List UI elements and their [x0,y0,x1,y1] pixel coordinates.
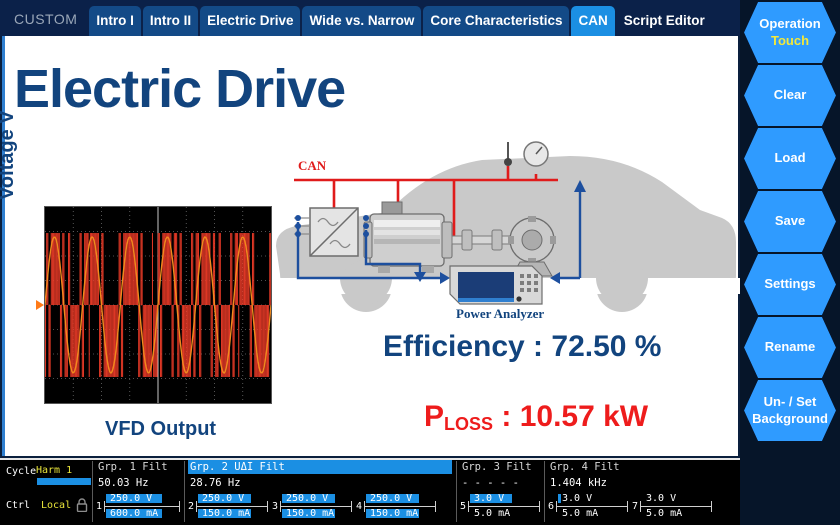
status-group-header[interactable]: Grp. 2 UΔI Filt [188,460,452,474]
sidebar-button-label: Rename [765,339,816,355]
tab-intro-i[interactable]: Intro I [89,6,141,36]
power-loss-value: 10.57 kW [520,400,648,433]
sidebar-button-operation[interactable]: OperationTouch [744,2,836,63]
channel-current-value: 5.0 mA [474,508,510,519]
channel-voltage-value: 3.0 V [646,493,676,504]
tab-bar: CUSTOM Intro IIntro IIElectric DriveWide… [0,0,740,36]
sensor-icon [504,142,512,166]
sidebar-button-load[interactable]: Load [744,128,836,189]
channel-current-value: 150.0 mA [286,508,334,519]
channel-voltage-value: 250.0 V [286,493,328,504]
sidebar-button-label: Settings [764,276,815,292]
powertrain-diagram: CAN [270,126,740,326]
channel-meter[interactable]: 63.0 V5.0 mA [548,490,632,523]
status-group: Grp. 2 UΔI Filt28.76 Hz [188,460,456,489]
sidebar-button-label: Load [774,150,805,166]
channel-voltage-value: 250.0 V [110,493,152,504]
sidebar-button-sublabel: Touch [771,33,809,49]
channel-current-value: 150.0 mA [202,508,250,519]
tab-script-editor[interactable]: Script Editor [617,6,712,36]
oscilloscope-display[interactable] [44,206,272,404]
channel-scale-cap-right [267,501,268,512]
channel-scale-cap-left [364,501,365,512]
channel-scale-cap-left [640,501,641,512]
channel-number: 4 [356,501,362,512]
power-analyzer-label: Power Analyzer [456,306,544,321]
sidebar-button-sublabel: Background [752,411,828,427]
sidebar-button-un-set[interactable]: Un- / SetBackground [744,380,836,441]
scope-waveform [45,207,271,403]
sidebar-button-label: Save [775,213,805,229]
canvas-left-edge [2,36,5,456]
application-window: CUSTOM Intro IIntro IIElectric DriveWide… [0,0,840,525]
channel-number: 5 [460,501,466,512]
sidebar: OperationTouchClearLoadSaveSettingsRenam… [740,0,840,525]
gauge-icon [524,142,548,166]
channel-scale-cap-right [627,501,628,512]
channel-scale-cap-left [104,501,105,512]
diagram-svg: CAN [270,126,740,326]
tab-intro-ii[interactable]: Intro II [143,6,198,36]
channel-meter[interactable]: 53.0 V5.0 mA [460,490,544,523]
custom-label: CUSTOM [0,11,89,36]
status-group-frequency: 28.76 Hz [188,477,456,489]
channel-scale-line [556,506,628,507]
channel-scale-cap-right [351,501,352,512]
scope-y-axis-label: Voltage V [0,110,19,200]
channel-current-value: 600.0 mA [110,508,158,519]
channel-voltage-value: 3.0 V [474,493,504,504]
status-separator [184,461,185,522]
tab-core-characteristics[interactable]: Core Characteristics [423,6,569,36]
sidebar-button-label: Un- / Set [764,394,817,410]
channel-scale-cap-right [435,501,436,512]
channel-current-value: 150.0 mA [370,508,418,519]
channel-current-value: 5.0 mA [562,508,598,519]
channel-scale-cap-right [539,501,540,512]
status-bar: Cycle Harm 1 Ctrl Local Grp. 1 Filt50.03… [0,458,740,525]
channel-number: 3 [272,501,278,512]
can-bus-label: CAN [298,158,327,173]
status-separator [92,461,93,522]
channel-scale-line [196,506,268,507]
tab-can[interactable]: CAN [571,6,614,36]
power-loss-subscript: LOSS [444,414,493,434]
sidebar-button-clear[interactable]: Clear [744,65,836,126]
status-group: Grp. 1 Filt50.03 Hz [96,460,184,489]
channel-meter[interactable]: 3250.0 V150.0 mA [272,490,356,523]
status-group-header[interactable]: Grp. 1 Filt [96,460,184,474]
page-title: Electric Drive [14,62,345,116]
status-group: Grp. 4 Filt1.404 kHz [548,460,738,489]
cycle-label: Cycle [6,466,36,477]
channel-scale-line [364,506,436,507]
channel-meter[interactable]: 1250.0 V600.0 mA [96,490,184,523]
cycle-bar [37,478,91,485]
status-separator [456,461,457,522]
efficiency-readout: Efficiency : 72.50 % [383,330,661,364]
status-left-panel: Cycle Harm 1 Ctrl Local [4,460,92,523]
channel-meter[interactable]: 4250.0 V150.0 mA [356,490,440,523]
channel-voltage-bar [558,494,561,503]
channel-scale-cap-left [280,501,281,512]
channel-number: 1 [96,501,102,512]
sidebar-button-label: Clear [774,87,807,103]
tab-wide-vs-narrow[interactable]: Wide vs. Narrow [302,6,421,36]
lock-icon [76,498,88,512]
channel-voltage-value: 250.0 V [202,493,244,504]
channel-scale-line [104,506,180,507]
status-separator [544,461,545,522]
efficiency-label: Efficiency : [383,330,551,363]
channel-scale-line [468,506,540,507]
power-loss-readout: PLOSS : 10.57 kW [424,400,648,434]
channel-scale-cap-left [468,501,469,512]
channel-voltage-value: 3.0 V [562,493,592,504]
efficiency-value: 72.50 % [551,330,661,363]
channel-meter[interactable]: 73.0 V5.0 mA [632,490,716,523]
sidebar-button-label: Operation [759,16,820,32]
cycle-value[interactable]: Harm 1 [36,465,72,476]
scope-caption: VFD Output [105,418,216,441]
status-group-frequency: 50.03 Hz [96,477,184,489]
channel-meter[interactable]: 2250.0 V150.0 mA [188,490,272,523]
power-loss-separator: : [493,400,520,433]
channel-scale-line [280,506,352,507]
channel-scale-line [640,506,712,507]
sidebar-button-settings[interactable]: Settings [744,254,836,315]
status-group-frequency: - - - - - [460,477,544,489]
status-group-header[interactable]: Grp. 3 Filt [460,460,544,474]
channel-number: 2 [188,501,194,512]
channel-scale-cap-right [711,501,712,512]
ctrl-value[interactable]: Local [41,500,71,511]
status-group-header[interactable]: Grp. 4 Filt [548,460,738,474]
ctrl-label: Ctrl [6,500,30,511]
trigger-marker-icon [36,300,44,310]
channel-voltage-value: 250.0 V [370,493,412,504]
channel-number: 7 [632,501,638,512]
tab-electric-drive[interactable]: Electric Drive [200,6,300,36]
status-group-frequency: 1.404 kHz [548,477,738,489]
channel-number: 6 [548,501,554,512]
power-analyzer-icon [450,266,542,304]
sidebar-button-save[interactable]: Save [744,191,836,252]
status-group: Grp. 3 Filt- - - - - [460,460,544,489]
channel-current-value: 5.0 mA [646,508,682,519]
sidebar-button-rename[interactable]: Rename [744,317,836,378]
channel-scale-cap-left [196,501,197,512]
power-loss-label: P [424,400,444,433]
channel-scale-cap-right [179,501,180,512]
channel-scale-cap-left [556,501,557,512]
